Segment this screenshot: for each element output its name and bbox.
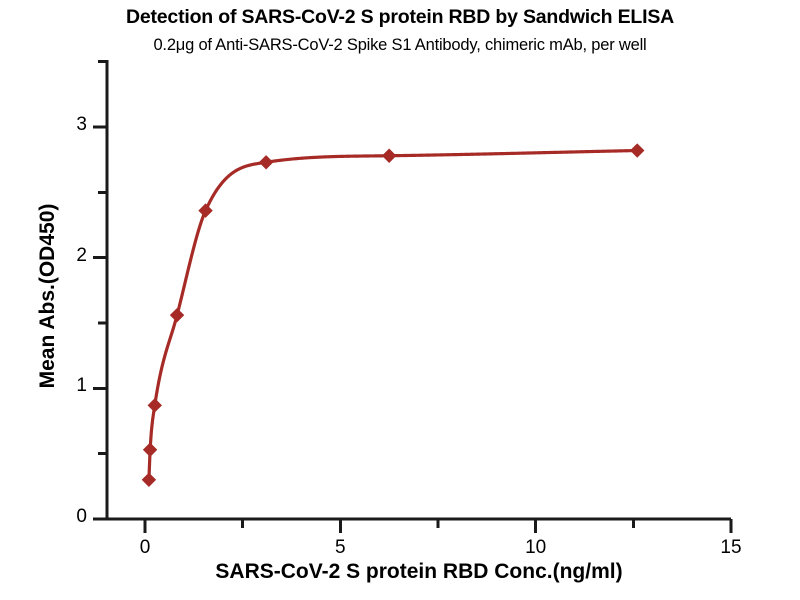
data-point-marker (198, 203, 212, 217)
data-point-marker (142, 473, 156, 487)
elisa-chart: Detection of SARS-CoV-2 S protein RBD by… (0, 0, 800, 600)
plot-area (0, 0, 800, 600)
y-tick-label: 3 (47, 114, 87, 136)
y-tick-label: 2 (47, 245, 87, 267)
data-point-marker (143, 443, 157, 457)
data-point-marker (259, 155, 273, 169)
data-point-marker (630, 143, 644, 157)
x-tick-label: 5 (320, 537, 360, 559)
series-line (149, 151, 637, 480)
data-point-marker (382, 149, 396, 163)
axes (93, 60, 731, 533)
data-point-marker (148, 398, 162, 412)
x-tick-label: 10 (516, 537, 556, 559)
y-tick-label: 1 (47, 375, 87, 397)
data-series (142, 143, 645, 487)
x-tick-label: 0 (125, 537, 165, 559)
x-tick-label: 15 (711, 537, 751, 559)
data-point-marker (170, 308, 184, 322)
y-tick-label: 0 (47, 506, 87, 528)
